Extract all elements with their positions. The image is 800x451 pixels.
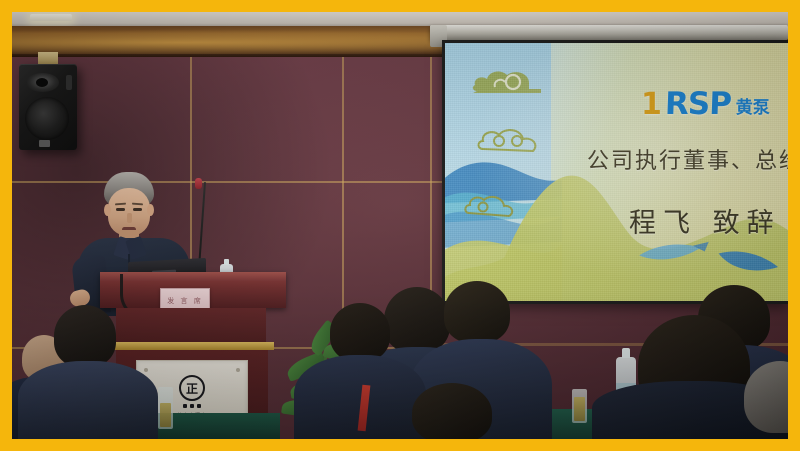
audience-head	[444, 281, 510, 343]
photo-yellow-border: 1 RSP 黄泵 公司执行董事、总经理 程飞 致辞	[0, 0, 800, 451]
sign-screw	[144, 368, 148, 372]
pa-speaker-icon	[19, 64, 77, 150]
drinking-glass-icon	[158, 387, 173, 429]
presenter-eye	[133, 208, 142, 211]
sign-screw	[236, 368, 240, 372]
hotel-emblem-letter: 正	[186, 380, 198, 397]
hotel-emblem-icon: 正	[179, 375, 205, 401]
nameplate-text: 发 言 席	[167, 296, 202, 306]
speaker-badge	[39, 140, 50, 147]
logo-chinese-name: 黄泵	[736, 100, 770, 120]
screen-housing	[430, 25, 788, 40]
star-dot	[190, 404, 194, 408]
speaker-tweeter	[26, 73, 59, 92]
projection-screen: 1 RSP 黄泵 公司执行董事、总经理 程飞 致辞	[445, 43, 788, 301]
presenter-ear	[104, 204, 111, 216]
podium-gold-band	[108, 342, 274, 350]
audience-head	[54, 305, 116, 367]
slide-title-line-1: 公司执行董事、总经理	[587, 143, 788, 175]
logo-numeral: 1	[641, 90, 660, 120]
audience-head	[412, 383, 492, 439]
presenter-nose	[127, 213, 132, 223]
star-dot	[183, 404, 187, 408]
hotel-star-rating	[183, 404, 201, 408]
audience-head	[384, 287, 450, 353]
star-dot	[197, 404, 201, 408]
logo-wordmark: RSP	[664, 89, 731, 120]
slide-brand-logo: 1 RSP 黄泵	[641, 89, 770, 120]
tea-liquid	[574, 397, 585, 421]
tea-liquid	[160, 403, 171, 427]
speaker-woofer	[25, 97, 69, 140]
podium-body	[116, 308, 266, 344]
presenter-eye	[116, 208, 125, 211]
audience-head	[330, 303, 390, 361]
speaker-port	[66, 75, 72, 90]
microphone-head-icon	[195, 178, 202, 189]
audience-shoulders	[18, 361, 158, 439]
presenter-ear	[147, 204, 154, 216]
drinking-glass-icon	[572, 389, 587, 423]
photograph: 1 RSP 黄泵 公司执行董事、总经理 程飞 致辞	[12, 12, 788, 439]
conference-room-scene: 1 RSP 黄泵 公司执行董事、总经理 程飞 致辞	[12, 12, 788, 439]
slide-title-line-2: 程飞 致辞	[629, 201, 781, 240]
projection-screen-frame: 1 RSP 黄泵 公司执行董事、总经理 程飞 致辞	[442, 40, 788, 304]
ceiling-light	[30, 14, 72, 21]
